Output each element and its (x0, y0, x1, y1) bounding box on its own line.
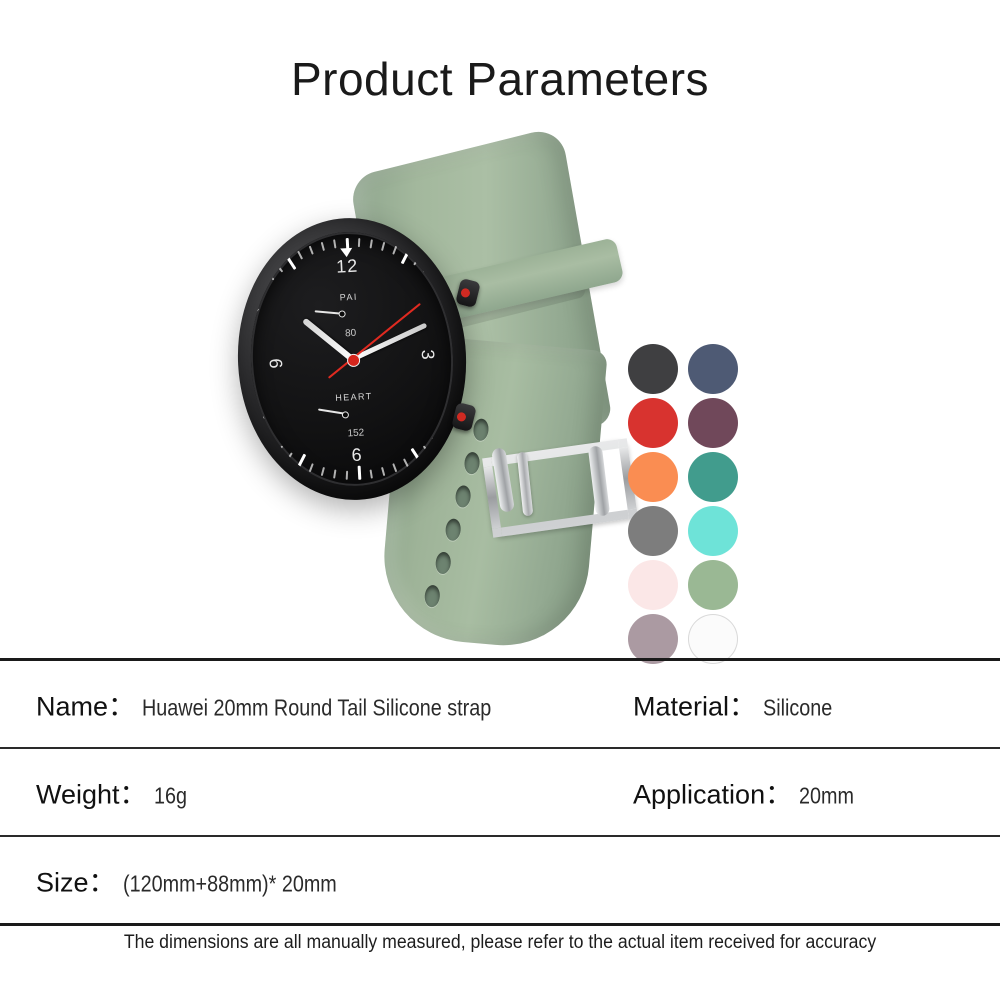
color-swatch-red[interactable] (628, 398, 678, 448)
subdial-value-pai: 80 (345, 328, 357, 340)
color-swatch-white[interactable] (688, 614, 738, 664)
smartwatch: 12 3 6 9 PAI 80 HEART 152 (238, 218, 470, 518)
watch-numeral-6: 6 (351, 445, 363, 467)
watch-tick (251, 292, 260, 299)
color-swatch-charcoal[interactable] (628, 344, 678, 394)
color-swatch-teal[interactable] (688, 452, 738, 502)
spec-label-name: Name： (36, 685, 135, 724)
watch-numeral-12: 12 (336, 256, 359, 278)
color-swatch-mauve[interactable] (628, 614, 678, 664)
watch-tick (358, 238, 360, 247)
watch-tick (392, 246, 397, 255)
watch-tick (381, 242, 385, 251)
watch-tick (297, 251, 303, 260)
spec-cell-weight: Weight： 16g (36, 773, 192, 812)
watch-tick (403, 458, 409, 467)
strap-hole (424, 585, 441, 608)
color-swatch-pale-pink[interactable] (628, 560, 678, 610)
watch-tick (381, 467, 385, 476)
spec-value-name: Huawei 20mm Round Tail Silicone strap (142, 695, 491, 722)
watch-bezel: 12 3 6 9 PAI 80 HEART 152 (244, 227, 459, 491)
strap-hole (435, 551, 452, 574)
spec-cell-name: Name： Huawei 20mm Round Tail Silicone st… (36, 685, 548, 724)
watch-tick (439, 429, 447, 436)
spec-value-material: Silicone (763, 695, 832, 722)
spec-table: Name： Huawei 20mm Round Tail Silicone st… (0, 658, 1000, 926)
table-row: Size： (120mm+88mm)* 20mm (0, 837, 1000, 923)
page-title: Product Parameters (0, 52, 1000, 106)
subdial-hand-heart (318, 408, 344, 414)
watch-tick (370, 239, 373, 248)
color-swatch-slate-blue[interactable] (688, 344, 738, 394)
watch-face: 12 3 6 9 PAI 80 HEART 152 (244, 227, 459, 491)
spec-cell-application: Application： 20mm (633, 773, 863, 812)
strap-hole (473, 418, 490, 441)
spec-label-material: Material： (633, 685, 756, 724)
subdial-hand-pai (315, 310, 341, 314)
footer-note: The dimensions are all manually measured… (35, 932, 965, 954)
color-swatch-turquoise[interactable] (688, 506, 738, 556)
watch-numeral-3: 3 (417, 349, 439, 361)
color-swatch-sage-green[interactable] (688, 560, 738, 610)
watch-tick (276, 264, 283, 272)
spec-cell-size: Size： (120mm+88mm)* 20mm (36, 861, 371, 900)
watch-tick (309, 463, 314, 472)
color-swatch-orange[interactable] (628, 452, 678, 502)
watch-tick (286, 452, 293, 461)
watch-tick (333, 239, 336, 248)
watch-numeral-9: 9 (266, 357, 288, 369)
subdial-label-pai: PAI (339, 292, 358, 303)
watch-tick (423, 445, 430, 453)
watch-tick (267, 273, 275, 281)
color-swatch-gray[interactable] (628, 506, 678, 556)
watch-tick (439, 282, 447, 289)
watch-tick (446, 419, 455, 426)
color-swatch-grid (628, 344, 742, 668)
subdial-value-heart: 152 (347, 427, 364, 439)
watch-center-cap (346, 353, 360, 367)
watch-tick (258, 429, 266, 436)
watch-tick (431, 273, 439, 281)
watch-tick (346, 471, 348, 480)
watch-tick (423, 264, 430, 272)
spec-value-size: (120mm+88mm)* 20mm (123, 871, 337, 898)
watch-tick (411, 448, 421, 461)
color-swatch-wine[interactable] (688, 398, 738, 448)
watch-tick (321, 242, 325, 251)
watch-tick (309, 246, 314, 255)
spec-label-application: Application： (633, 773, 792, 812)
watch-tick (321, 467, 325, 476)
watch-tick (297, 454, 306, 468)
watch-tick (286, 257, 296, 270)
watch-tick (267, 437, 275, 445)
spec-label-size: Size： (36, 861, 116, 900)
watch-tick (401, 250, 410, 264)
spec-value-weight: 16g (154, 783, 187, 810)
watch-tick (370, 469, 373, 478)
spec-value-application: 20mm (799, 783, 854, 810)
watch-tick (333, 469, 336, 478)
spec-label-weight: Weight： (36, 773, 147, 812)
subdial-pivot-heart (342, 411, 349, 418)
watch-tick (258, 282, 266, 289)
watch-tick (392, 463, 397, 472)
table-row: Weight： 16g Application： 20mm (0, 749, 1000, 835)
subdial-label-heart: HEART (335, 391, 373, 403)
subdial-pivot-pai (338, 310, 345, 317)
watch-tick (413, 257, 420, 266)
spec-cell-material: Material： Silicone (633, 685, 844, 724)
table-row: Name： Huawei 20mm Round Tail Silicone st… (0, 661, 1000, 747)
watch-tick (431, 437, 439, 445)
table-divider-bottom (0, 923, 1000, 926)
product-image: 12 3 6 9 PAI 80 HEART 152 (0, 130, 1000, 660)
strap-hole (445, 518, 462, 541)
watch-tick (358, 466, 362, 480)
watch-tick (276, 445, 283, 453)
